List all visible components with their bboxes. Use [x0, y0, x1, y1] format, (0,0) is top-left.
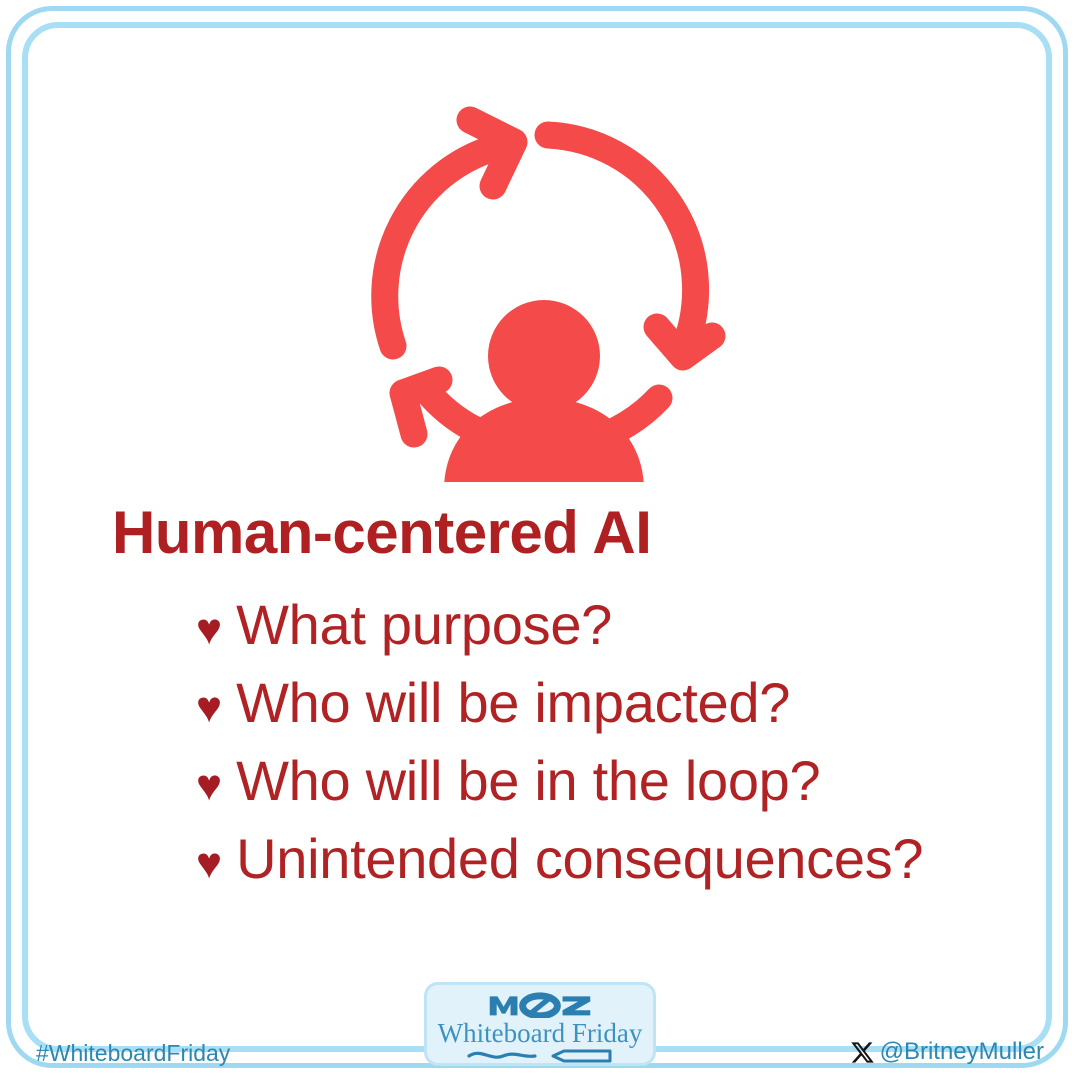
list-item-label: Who will be in the loop? [236, 748, 820, 813]
list-item: ♥ Who will be in the loop? [196, 748, 1016, 826]
page-title: Human-centered AI [112, 498, 651, 567]
x-twitter-icon [850, 1040, 875, 1065]
whiteboard-friday-badge: Whiteboard Friday [424, 982, 656, 1066]
list-item: ♥ What purpose? [196, 592, 1016, 670]
list-item-label: Unintended consequences? [236, 826, 923, 891]
social-handle[interactable]: @BritneyMuller [850, 1038, 1044, 1066]
list-item-label: What purpose? [236, 592, 612, 657]
human-in-the-loop-cycle-icon [352, 98, 736, 482]
list-item: ♥ Who will be impacted? [196, 670, 1016, 748]
heart-bullet-icon: ♥ [196, 764, 222, 808]
hashtag-label: #WhiteboardFriday [36, 1040, 230, 1067]
bullet-list: ♥ What purpose? ♥ Who will be impacted? … [196, 592, 1016, 904]
badge-series-label: Whiteboard Friday [438, 1019, 643, 1047]
heart-bullet-icon: ♥ [196, 608, 222, 652]
heart-bullet-icon: ♥ [196, 842, 222, 886]
whiteboard-friday-card: Human-centered AI ♥ What purpose? ♥ Who … [0, 0, 1080, 1080]
marker-doodle-icon [465, 1049, 615, 1063]
moz-logo [488, 992, 592, 1018]
list-item-label: Who will be impacted? [236, 670, 790, 735]
heart-bullet-icon: ♥ [196, 686, 222, 730]
handle-label: @BritneyMuller [880, 1038, 1044, 1066]
list-item: ♥ Unintended consequences? [196, 826, 1016, 904]
